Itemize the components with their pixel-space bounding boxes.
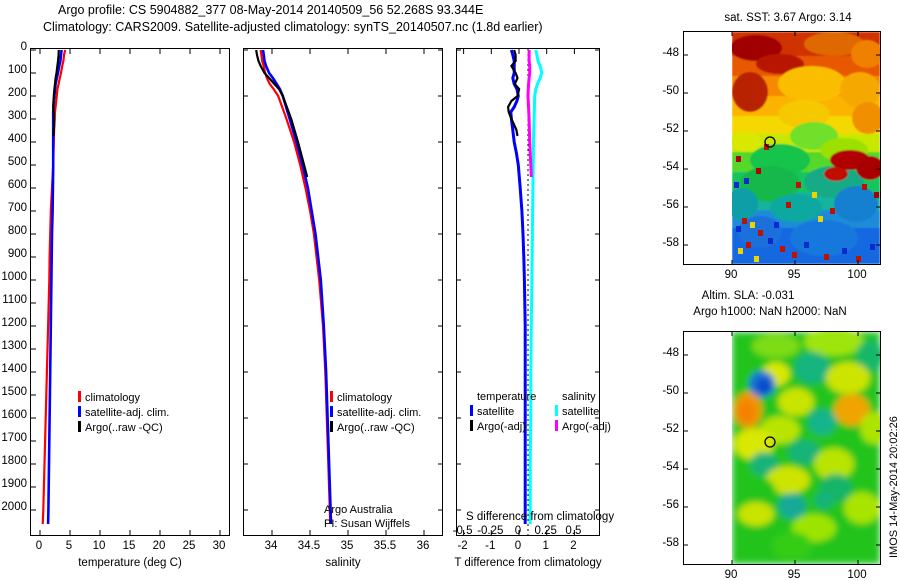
panel-difference <box>456 48 600 536</box>
legend-label: climatology <box>85 392 140 404</box>
legend-label: Argo(-adj) <box>562 421 611 433</box>
series-satellite-adj-salinity <box>263 50 331 524</box>
difference-bottom-axis-label: T difference from climatology <box>454 557 601 569</box>
temperature-plot-canvas <box>31 49 229 535</box>
difference-legend-temperature: temperature satellite Argo(-adj) <box>470 391 536 433</box>
legend-item: Argo(-adj) <box>470 420 536 433</box>
imos-timestamp: IMOS 14-May-2014 20:02:26 <box>888 416 900 558</box>
panel-temperature <box>30 48 230 536</box>
map-sla-title-line1: Altim. SLA: -0.031 <box>702 290 795 302</box>
legend-swatch-climatology <box>330 391 333 402</box>
tick-label: -0.5 <box>453 525 473 537</box>
map-sla <box>683 331 881 565</box>
map-sst-canvas <box>684 32 880 264</box>
legend-label: satellite-adj. clim. <box>337 407 421 419</box>
salinity-plot-canvas <box>244 49 442 535</box>
legend-label: Argo(..raw -QC) <box>85 422 163 434</box>
page-title-line1: Argo profile: CS 5904882_377 08-May-2014… <box>58 3 483 17</box>
salinity-legend: climatology satellite-adj. clim. Argo(..… <box>330 391 421 434</box>
legend-label: Argo(-adj) <box>477 421 526 433</box>
series-temperature-argo-adj-diff <box>508 50 519 136</box>
legend-item: Argo(..raw -QC) <box>330 421 421 434</box>
tick-label: 0 <box>515 525 521 537</box>
series-salinity-satellite-diff <box>530 50 542 524</box>
credit-pi: PI: Susan Wijffels <box>324 518 410 530</box>
legend-swatch-satellite-adj <box>78 406 81 417</box>
credit-organisation: Argo Australia <box>324 504 392 516</box>
legend-item: Argo(-adj) <box>555 420 611 433</box>
difference-plot-canvas <box>457 49 599 535</box>
legend-item: satellite-adj. clim. <box>330 406 421 419</box>
legend-label: climatology <box>337 392 392 404</box>
legend-swatch-argo-raw <box>330 421 333 432</box>
legend-swatch-argo-raw <box>78 421 81 432</box>
map-sla-title-line2: Argo h1000: NaN h2000: NaN <box>693 306 846 318</box>
legend-swatch-temperature-satellite <box>470 405 473 416</box>
legend-label: satellite-adj. clim. <box>85 407 169 419</box>
tick-label: -0.25 <box>477 525 503 537</box>
temperature-x-axis-label: temperature (deg C) <box>78 557 182 569</box>
legend-swatch-satellite-adj <box>330 406 333 417</box>
legend-item: satellite-adj. clim. <box>78 406 169 419</box>
series-climatology-salinity <box>261 50 331 524</box>
legend-header: temperature <box>470 391 536 403</box>
legend-item: climatology <box>330 391 421 404</box>
difference-top-axis-label: S difference from climatology <box>466 511 614 523</box>
legend-label: Argo(..raw -QC) <box>337 422 415 434</box>
salinity-x-axis-label: salinity <box>325 557 360 569</box>
legend-header: salinity <box>555 391 611 403</box>
legend-item: Argo(..raw -QC) <box>78 421 169 434</box>
map-sst-title: sat. SST: 3.67 Argo: 3.14 <box>724 12 851 24</box>
legend-item: climatology <box>78 391 169 404</box>
difference-legend-salinity: salinity satellite Argo(-adj) <box>555 391 611 433</box>
map-sla-canvas <box>684 332 880 564</box>
legend-swatch-climatology <box>78 391 81 402</box>
legend-swatch-temperature-argo-adj <box>470 420 473 431</box>
page-title-line2: Climatology: CARS2009. Satellite-adjuste… <box>43 20 543 34</box>
legend-label: satellite <box>477 406 514 418</box>
sla-field <box>732 332 880 564</box>
series-salinity-argo-adj-diff <box>528 50 531 177</box>
legend-swatch-salinity-satellite <box>555 405 558 416</box>
legend-item: satellite <box>555 405 611 418</box>
map-sst <box>683 31 881 265</box>
legend-swatch-salinity-argo-adj <box>555 420 558 431</box>
tick-label: 0.5 <box>565 525 581 537</box>
temperature-legend: climatology satellite-adj. clim. Argo(..… <box>78 391 169 434</box>
legend-label: satellite <box>562 406 599 418</box>
legend-item: satellite <box>470 405 536 418</box>
sst-field <box>726 32 880 264</box>
imos-timestamp-wrapper: IMOS 14-May-2014 20:02:26 <box>888 558 900 570</box>
tick-label: 0.25 <box>534 525 556 537</box>
panel-salinity <box>243 48 443 536</box>
